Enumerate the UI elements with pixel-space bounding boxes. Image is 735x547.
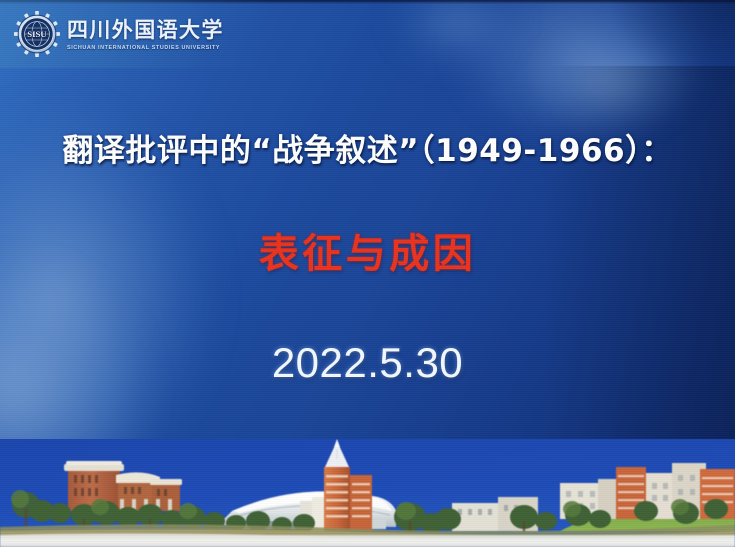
university-name-en: SICHUAN INTERNATIONAL STUDIES UNIVERSITY bbox=[67, 45, 224, 51]
slide-main-title: 翻译批评中的“战争叙述”（1949-1966）： bbox=[0, 133, 735, 170]
presentation-title-slide: SISU 四川外国语大学 SICHUAN INTERNATIONAL STUDI… bbox=[0, 0, 735, 547]
slide-date: 2022.5.30 bbox=[0, 339, 735, 387]
campus-panorama-photo bbox=[0, 439, 735, 547]
university-branding-band: SISU 四川外国语大学 SICHUAN INTERNATIONAL STUDI… bbox=[0, 0, 262, 68]
svg-text:SISU: SISU bbox=[27, 29, 47, 39]
university-name-cn: 四川外国语大学 bbox=[67, 19, 224, 41]
sisu-university-seal-icon: SISU bbox=[14, 11, 60, 57]
university-name-block: 四川外国语大学 SICHUAN INTERNATIONAL STUDIES UN… bbox=[67, 17, 224, 50]
slide-subtitle: 表征与成因 bbox=[0, 232, 735, 276]
vignette-right bbox=[544, 66, 735, 493]
